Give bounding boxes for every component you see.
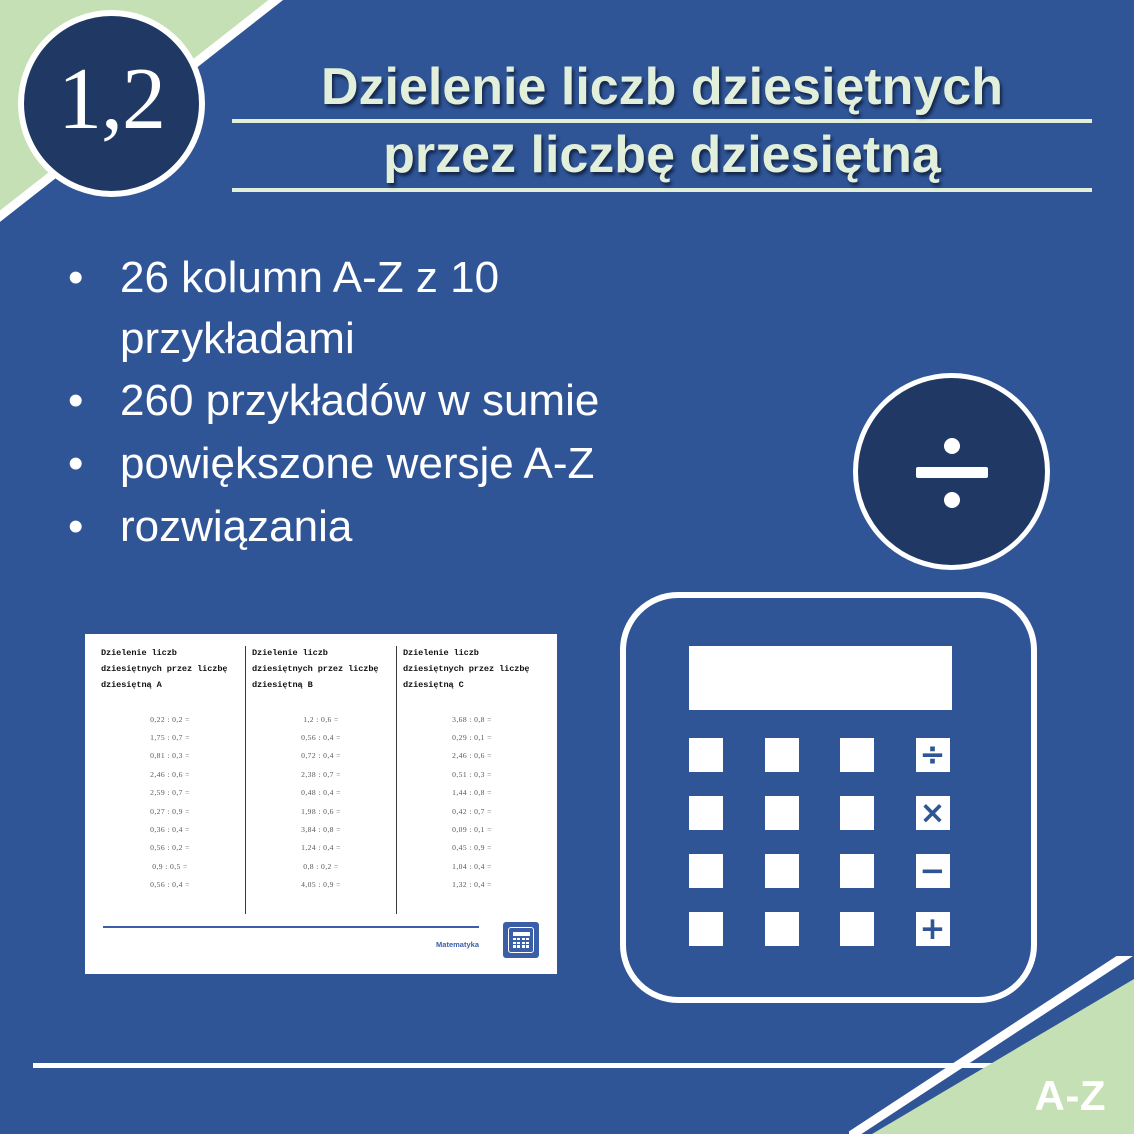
worksheet-column-c: Dzielenie liczb dziesiętnych przez liczb… [396,646,547,914]
worksheet-exercise: 0,36 : 0,4 = [101,821,239,839]
calculator-key [765,854,799,888]
divide-icon [916,436,988,508]
calculator-keypad: ÷ × − + [689,738,961,946]
worksheet-exercise: 0,45 : 0,9 = [403,839,541,857]
worksheet-exercise: 0,8 : 0,2 = [252,858,390,876]
worksheet-exercise: 4,05 : 0,9 = [252,876,390,894]
footer-divider [33,1063,1033,1068]
worksheet-column-b: Dzielenie liczb dziesiętnych przez liczb… [245,646,396,914]
calculator-key [840,912,874,946]
worksheet-exercise: 0,29 : 0,1 = [403,729,541,747]
worksheet-exercise: 0,51 : 0,3 = [403,766,541,784]
calculator-logo-icon [503,922,539,958]
worksheet-brand-label: Matematyka [436,940,479,949]
calculator-multiply-key: × [916,796,950,830]
calculator-plus-key: + [916,912,950,946]
calculator-key [689,854,723,888]
division-symbol-badge [853,373,1050,570]
worksheet-exercise: 0,9 : 0,5 = [101,858,239,876]
worksheet-exercise: 0,56 : 0,4 = [252,729,390,747]
lesson-number-badge: 1,2 [18,10,205,197]
list-item-label: 260 przykładów w sumie [120,376,599,425]
worksheet-preview: Dzielenie liczb dziesiętnych przez liczb… [85,634,557,974]
page-title-line-2: przez liczbę dziesiętną [232,126,1092,191]
worksheet-exercise: 0,22 : 0,2 = [101,711,239,729]
calculator-key [765,738,799,772]
worksheet-exercise: 3,68 : 0,8 = [403,711,541,729]
calculator-divide-key: ÷ [916,738,950,772]
page-title: Dzielenie liczb dziesiętnych przez liczb… [232,58,1092,195]
worksheet-exercise: 1,04 : 0,4 = [403,858,541,876]
worksheet-exercise: 0,42 : 0,7 = [403,803,541,821]
lesson-number-label: 1,2 [58,56,165,152]
worksheet-exercise: 1,44 : 0,8 = [403,784,541,802]
worksheet-exercise-list: 3,68 : 0,8 = 0,29 : 0,1 = 2,46 : 0,6 = 0… [403,711,541,895]
worksheet-exercise: 2,38 : 0,7 = [252,766,390,784]
worksheet-exercise: 1,98 : 0,6 = [252,803,390,821]
worksheet-footer-divider [103,926,479,928]
bullet-dot-icon: • [68,434,83,495]
calculator-key [765,912,799,946]
list-item: • 260 przykładów w sumie [52,371,712,432]
worksheet-exercise: 1,32 : 0,4 = [403,876,541,894]
worksheet-exercise-list: 0,22 : 0,2 = 1,75 : 0,7 = 0,81 : 0,3 = 2… [101,711,239,895]
worksheet-exercise: 0,09 : 0,1 = [403,821,541,839]
list-item-label: 26 kolumn A-Z z 10 przykładami [120,253,499,363]
worksheet-exercise: 2,46 : 0,6 = [403,747,541,765]
worksheet-exercise: 2,59 : 0,7 = [101,784,239,802]
calculator-key [840,854,874,888]
calculator-display [689,646,952,710]
worksheet-exercise-list: 1,2 : 0,6 = 0,56 : 0,4 = 0,72 : 0,4 = 2,… [252,711,390,895]
worksheet-exercise: 0,27 : 0,9 = [101,803,239,821]
calculator-key [840,738,874,772]
calculator-key [689,796,723,830]
worksheet-footer: Matematyka [95,920,547,966]
calculator-key [689,912,723,946]
list-item: • rozwiązania [52,497,712,558]
worksheet-exercise: 3,84 : 0,8 = [252,821,390,839]
bullet-dot-icon: • [68,497,83,558]
worksheet-columns: Dzielenie liczb dziesiętnych przez liczb… [95,646,547,914]
list-item-label: powiększone wersje A-Z [120,439,594,488]
worksheet-column-heading: Dzielenie liczb dziesiętnych przez liczb… [252,646,390,694]
worksheet-exercise: 2,46 : 0,6 = [101,766,239,784]
list-item: • 26 kolumn A-Z z 10 przykładami [52,248,712,369]
page-title-line-1: Dzielenie liczb dziesiętnych [232,58,1092,123]
calculator-key [765,796,799,830]
worksheet-exercise: 0,81 : 0,3 = [101,747,239,765]
worksheet-exercise: 0,56 : 0,2 = [101,839,239,857]
calculator-minus-key: − [916,854,950,888]
calculator-key [689,738,723,772]
bullet-dot-icon: • [68,371,83,432]
poster-canvas: 1,2 Dzielenie liczb dziesiętnych przez l… [0,0,1134,1134]
worksheet-exercise: 1,2 : 0,6 = [252,711,390,729]
worksheet-column-a: Dzielenie liczb dziesiętnych przez liczb… [95,646,245,914]
worksheet-exercise: 0,48 : 0,4 = [252,784,390,802]
list-item: • powiększone wersje A-Z [52,434,712,495]
feature-bullet-list: • 26 kolumn A-Z z 10 przykładami • 260 p… [52,248,712,560]
bullet-dot-icon: • [68,248,83,309]
worksheet-column-heading: Dzielenie liczb dziesiętnych przez liczb… [101,646,239,694]
worksheet-column-heading: Dzielenie liczb dziesiętnych przez liczb… [403,646,541,694]
worksheet-exercise: 0,56 : 0,4 = [101,876,239,894]
calculator-illustration: ÷ × − + [620,592,1037,1003]
range-label: A-Z [1035,1072,1106,1120]
list-item-label: rozwiązania [120,502,352,551]
worksheet-exercise: 1,75 : 0,7 = [101,729,239,747]
worksheet-exercise: 0,72 : 0,4 = [252,747,390,765]
worksheet-exercise: 1,24 : 0,4 = [252,839,390,857]
calculator-key [840,796,874,830]
